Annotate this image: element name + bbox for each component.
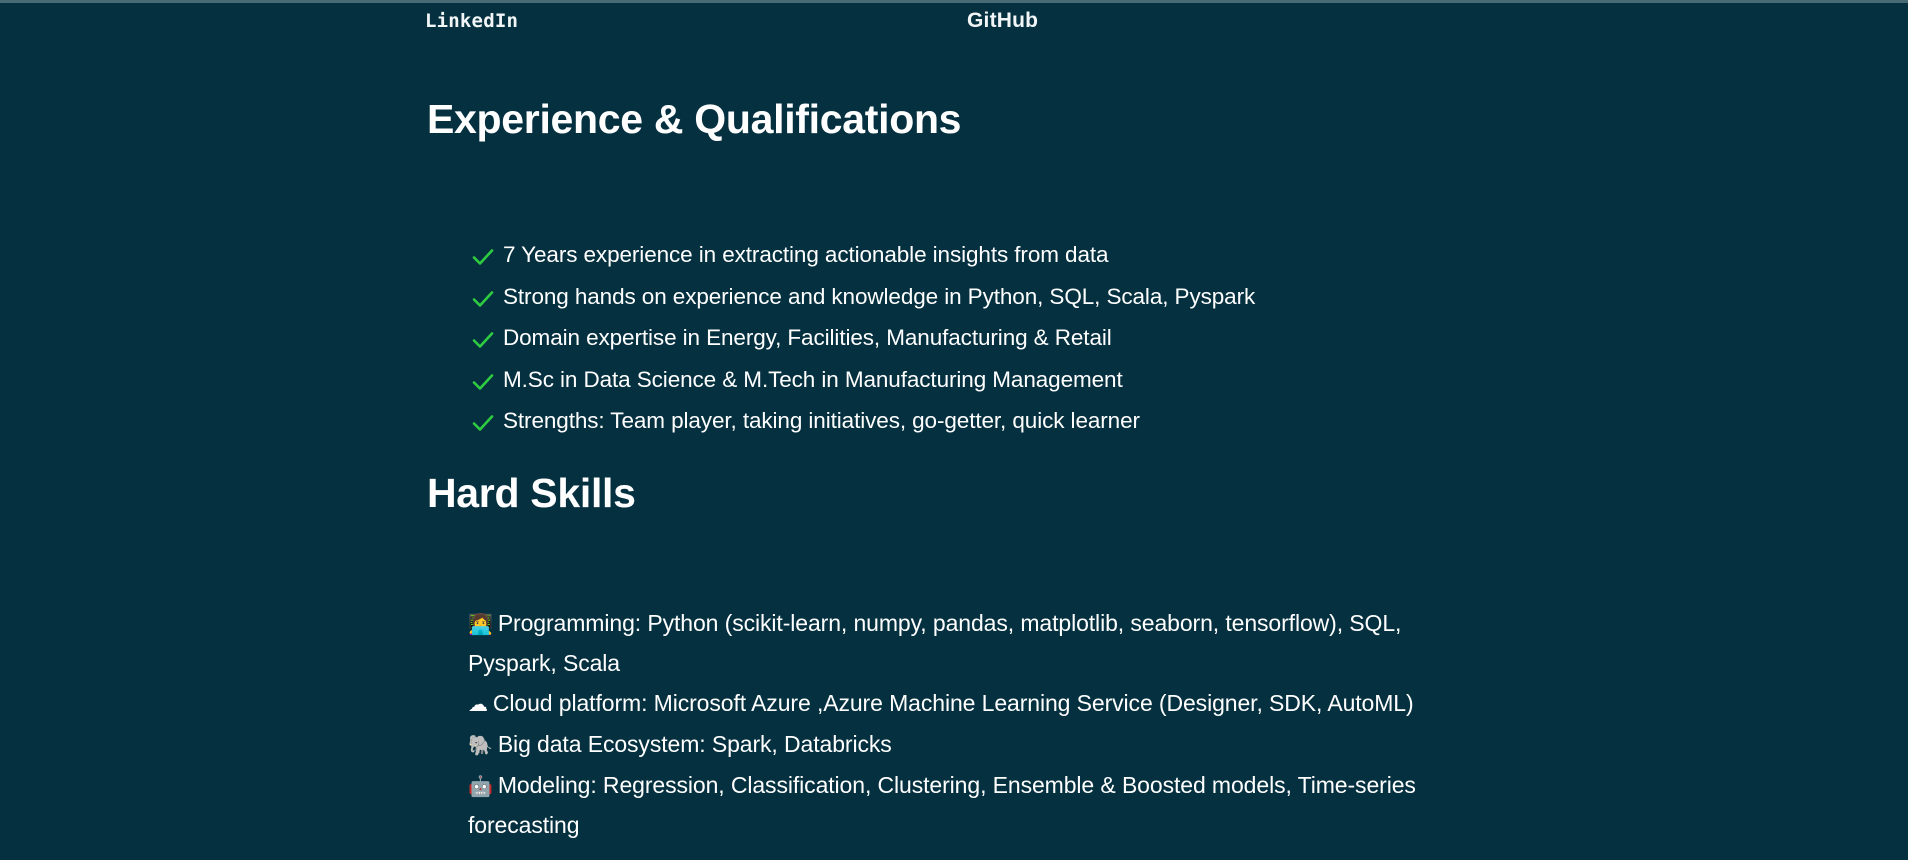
check-icon: [470, 410, 496, 436]
check-icon: [470, 286, 496, 312]
skill-line: 🐘Big data Ecosystem: Spark, Databricks: [468, 725, 1488, 765]
experience-list: 7 Years experience in extracting actiona…: [470, 240, 1255, 448]
list-item: Strong hands on experience and knowledge…: [470, 282, 1255, 313]
nav-links: LinkedIn GitHub: [0, 4, 1908, 44]
hard-skills-list: 👩‍💻Programming: Python (scikit-learn, nu…: [468, 604, 1488, 846]
list-item-label: Strong hands on experience and knowledge…: [503, 282, 1255, 312]
elephant-emoji: 🐘: [468, 733, 493, 757]
woman-technologist-emoji: 👩‍💻: [468, 612, 493, 636]
skill-line: 🤖Modeling: Regression, Classification, C…: [468, 766, 1488, 845]
cloud-emoji: ☁: [468, 692, 488, 716]
nav-link-linkedin[interactable]: LinkedIn: [425, 10, 518, 32]
list-item-label: M.Sc in Data Science & M.Tech in Manufac…: [503, 365, 1123, 395]
list-item: 7 Years experience in extracting actiona…: [470, 240, 1255, 271]
skill-line-label: Programming: Python (scikit-learn, numpy…: [468, 610, 1401, 676]
skill-line-label: Big data Ecosystem: Spark, Databricks: [498, 731, 892, 757]
robot-emoji: 🤖: [468, 774, 493, 798]
skill-line: ☁Cloud platform: Microsoft Azure ,Azure …: [468, 684, 1488, 724]
top-divider: [0, 0, 1908, 3]
section-title-hard-skills: Hard Skills: [427, 471, 636, 516]
list-item-label: 7 Years experience in extracting actiona…: [503, 240, 1108, 270]
check-icon: [470, 369, 496, 395]
list-item: Strengths: Team player, taking initiativ…: [470, 406, 1255, 437]
check-icon: [470, 244, 496, 270]
check-icon: [470, 327, 496, 353]
skill-line-label: Modeling: Regression, Classification, Cl…: [468, 772, 1416, 838]
list-item-label: Strengths: Team player, taking initiativ…: [503, 406, 1140, 436]
skill-line: 👩‍💻Programming: Python (scikit-learn, nu…: [468, 604, 1488, 683]
page-root: LinkedIn GitHub Experience & Qualificati…: [0, 0, 1908, 860]
skill-line-label: Cloud platform: Microsoft Azure ,Azure M…: [493, 690, 1414, 716]
list-item-label: Domain expertise in Energy, Facilities, …: [503, 323, 1112, 353]
list-item: M.Sc in Data Science & M.Tech in Manufac…: [470, 365, 1255, 396]
section-title-experience: Experience & Qualifications: [427, 97, 961, 142]
nav-link-github[interactable]: GitHub: [967, 9, 1038, 33]
list-item: Domain expertise in Energy, Facilities, …: [470, 323, 1255, 354]
